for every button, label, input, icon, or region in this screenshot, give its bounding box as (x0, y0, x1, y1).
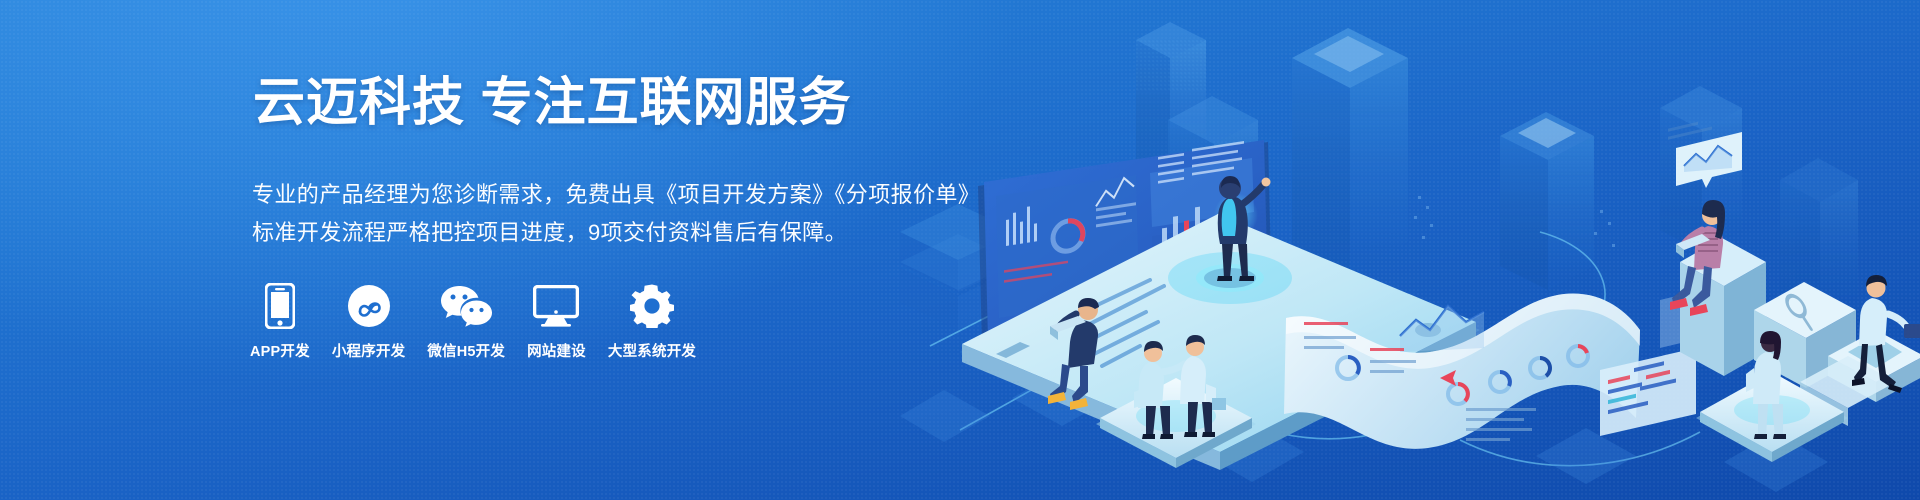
service-label-app: APP开发 (250, 340, 310, 361)
service-item-system[interactable]: 大型系统开发 (608, 283, 696, 361)
service-item-app[interactable]: APP开发 (250, 283, 310, 361)
mobile-phone-icon (252, 283, 308, 329)
person-woman-pillar (1670, 132, 1766, 376)
banner-content: 云迈科技 专注互联网服务 专业的产品经理为您诊断需求，免费出具《项目开发方案》《… (0, 0, 960, 500)
subtitle-line-1: 专业的产品经理为您诊断需求，免费出具《项目开发方案》《分项报价单》 (252, 176, 980, 214)
service-list: APP开发 小程序开发 (250, 283, 696, 361)
illustration-isometric-scene (900, 0, 1920, 500)
wechat-icon (438, 283, 494, 329)
service-label-website: 网站建设 (527, 340, 586, 361)
mini-program-icon (341, 283, 397, 329)
hero-banner: 云迈科技 专注互联网服务 专业的产品经理为您诊断需求，免费出具《项目开发方案》《… (0, 0, 1920, 500)
service-label-system: 大型系统开发 (608, 340, 696, 361)
page-title: 云迈科技 专注互联网服务 (253, 75, 851, 131)
service-item-miniprogram[interactable]: 小程序开发 (332, 283, 406, 361)
service-item-website[interactable]: 网站建设 (527, 283, 586, 361)
subtitle-line-2: 标准开发流程严格把控项目进度，9项交付资料售后有保障。 (252, 214, 980, 252)
gear-icon (624, 283, 680, 329)
service-label-miniprogram: 小程序开发 (332, 340, 406, 361)
monitor-icon (528, 283, 584, 329)
service-item-wechat[interactable]: 微信H5开发 (427, 283, 505, 361)
banner-subtitle: 专业的产品经理为您诊断需求，免费出具《项目开发方案》《分项报价单》 标准开发流程… (252, 176, 980, 252)
service-label-wechat: 微信H5开发 (427, 340, 505, 361)
